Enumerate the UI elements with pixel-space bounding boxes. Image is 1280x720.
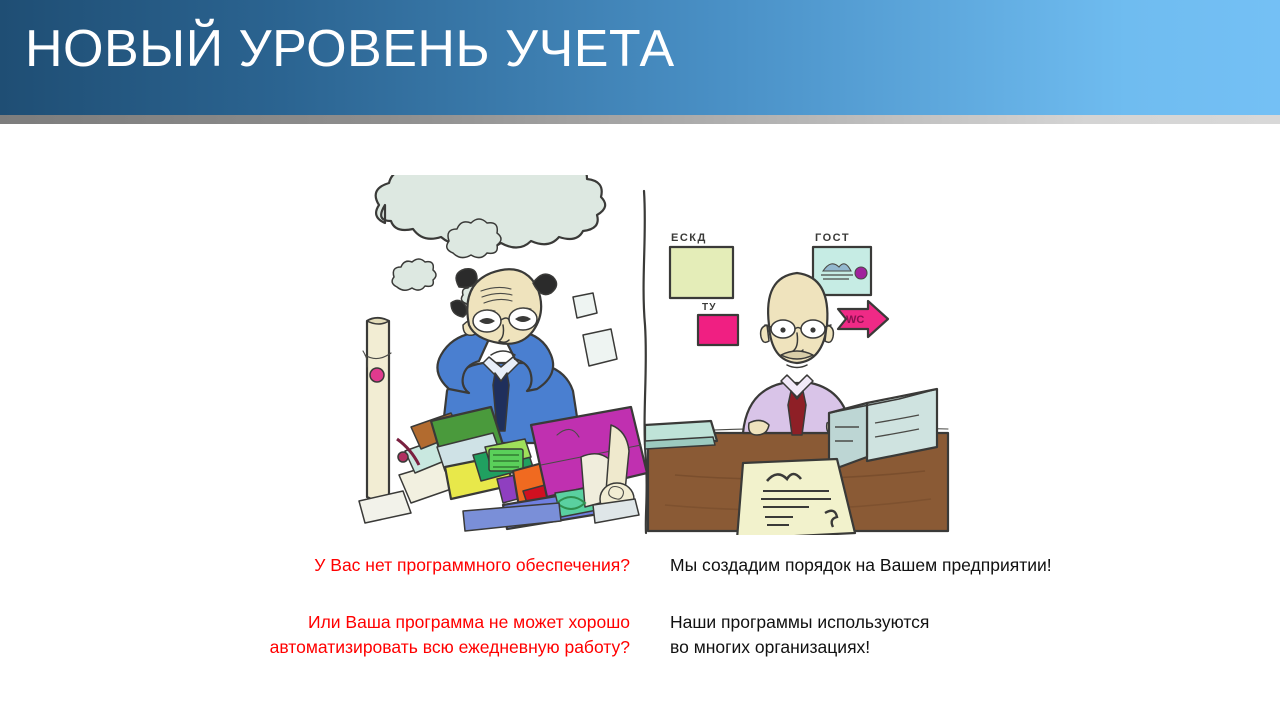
problem-line-2: Или Ваша программа не может хорошо автом… xyxy=(200,610,630,660)
header-divider-rule xyxy=(0,115,1280,124)
solution-line-1: Мы создадим порядок на Вашем предприятии… xyxy=(670,553,1140,578)
problem-caption-block: У Вас нет программного обеспечения? Или … xyxy=(200,553,630,660)
green-folder-on-desk xyxy=(645,421,717,449)
sign-wc-label: WC xyxy=(846,314,864,326)
rolled-drawing-vertical xyxy=(363,318,391,500)
flying-paper-1 xyxy=(573,293,597,318)
problem-text-1: У Вас нет программного обеспечения? xyxy=(200,553,630,578)
signed-document xyxy=(737,459,855,535)
poster-eskd-label: ЕСКД xyxy=(671,232,707,244)
problem-text-2b: автоматизировать всю ежедневную работу? xyxy=(200,635,630,660)
poster-gost-label: ГОСТ xyxy=(815,232,850,244)
problem-text-2a: Или Ваша программа не может хорошо xyxy=(200,610,630,635)
solution-text-1: Мы создадим порядок на Вашем предприятии… xyxy=(670,553,1140,578)
solution-caption-block: Мы создадим порядок на Вашем предприятии… xyxy=(670,553,1140,660)
flying-paper-2 xyxy=(583,329,617,366)
comparison-cartoon-image: .ink { stroke:#3a3a38; stroke-width:2.2;… xyxy=(345,175,950,535)
calculator-object xyxy=(489,449,523,471)
poster-tu-label: ТУ xyxy=(702,302,717,313)
solution-text-2b: во многих организациях! xyxy=(670,635,1140,660)
slide-header-band: НОВЫЙ УРОВЕНЬ УЧЕТА xyxy=(0,0,1280,115)
page-title: НОВЫЙ УРОВЕНЬ УЧЕТА xyxy=(25,18,675,80)
solution-line-2: Наши программы используются во многих ор… xyxy=(670,610,1140,660)
solution-text-2a: Наши программы используются xyxy=(670,610,1140,635)
problem-line-1: У Вас нет программного обеспечения? xyxy=(200,553,630,578)
